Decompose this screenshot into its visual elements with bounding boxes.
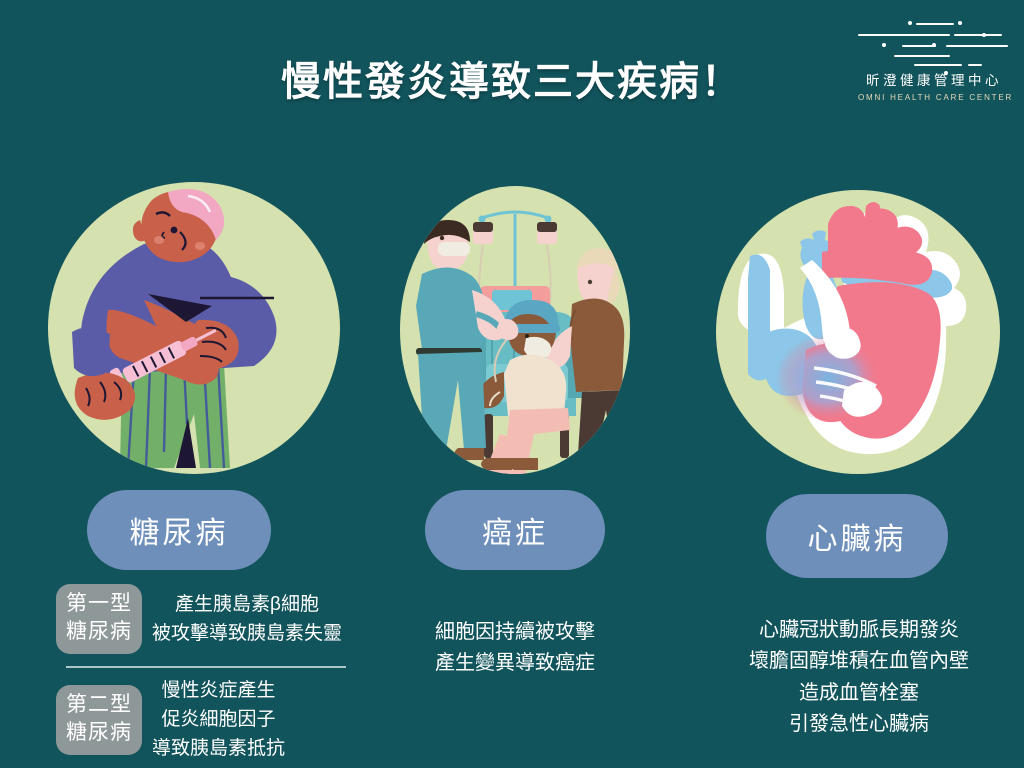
infographic-page: 慢性發炎導致三大疾病！ 昕澄健康管理中心 OMNI HEALTH CARE CE… bbox=[0, 0, 1024, 768]
cancer-description: 細胞因持續被攻擊 產生變異導致癌症 bbox=[386, 617, 644, 679]
diabetes-type2-row: 第二型 糖尿病 慢性炎症產生 促炎細胞因子 導致胰島素抵抗 bbox=[56, 676, 285, 763]
type2-line-2: 促炎細胞因子 bbox=[152, 705, 285, 734]
diabetes-type1-row: 第一型 糖尿病 產生胰島素β細胞 被攻擊導致胰島素失靈 bbox=[56, 584, 342, 654]
card-label-heart-disease: 心臟病 bbox=[766, 494, 948, 578]
diabetes-type1-description: 產生胰島素β細胞 被攻擊導致胰島素失靈 bbox=[152, 590, 342, 648]
heart-description-group-2: 造成血管栓塞 引發急性心臟病 bbox=[700, 678, 1018, 740]
type1-line-1: 產生胰島素β細胞 bbox=[152, 590, 342, 619]
heart-line-2: 壞膽固醇堆積在血管內壁 bbox=[700, 646, 1018, 677]
type1-line-2: 被攻擊導致胰島素失靈 bbox=[152, 619, 342, 648]
cancer-illustration bbox=[400, 186, 630, 474]
diabetes-illustration bbox=[48, 182, 340, 474]
badge-type2-line1: 第二型 bbox=[56, 691, 142, 719]
card-heart-disease: 心臟病 心臟冠狀動脈長期發炎 壞膽固醇堆積在血管內壁 造成血管栓塞 引發急性心臟… bbox=[700, 0, 1018, 768]
badge-type1-line2: 糖尿病 bbox=[56, 618, 142, 646]
cancer-line-2: 產生變異導致癌症 bbox=[386, 648, 644, 679]
card-label-cancer: 癌症 bbox=[425, 490, 605, 570]
diabetes-divider bbox=[66, 666, 346, 668]
card-label-diabetes: 糖尿病 bbox=[87, 490, 271, 570]
heart-line-1: 心臟冠狀動脈長期發炎 bbox=[700, 615, 1018, 646]
card-cancer: 癌症 細胞因持續被攻擊 產生變異導致癌症 bbox=[386, 0, 644, 768]
heart-description-group-1: 心臟冠狀動脈長期發炎 壞膽固醇堆積在血管內壁 bbox=[700, 615, 1018, 677]
badge-type2: 第二型 糖尿病 bbox=[56, 685, 142, 755]
cancer-line-1: 細胞因持續被攻擊 bbox=[386, 617, 644, 648]
heart-illustration bbox=[716, 190, 1000, 474]
badge-type2-line2: 糖尿病 bbox=[56, 719, 142, 747]
heart-line-3: 造成血管栓塞 bbox=[700, 678, 1018, 709]
card-diabetes: 糖尿病 第一型 糖尿病 產生胰島素β細胞 被攻擊導致胰島素失靈 第二型 糖尿病 … bbox=[34, 0, 364, 768]
heart-line-4: 引發急性心臟病 bbox=[700, 709, 1018, 740]
type2-line-3: 導致胰島素抵抗 bbox=[152, 734, 285, 763]
badge-type1: 第一型 糖尿病 bbox=[56, 584, 142, 654]
diabetes-type2-description: 慢性炎症產生 促炎細胞因子 導致胰島素抵抗 bbox=[152, 676, 285, 763]
type2-line-1: 慢性炎症產生 bbox=[152, 676, 285, 705]
badge-type1-line1: 第一型 bbox=[56, 590, 142, 618]
